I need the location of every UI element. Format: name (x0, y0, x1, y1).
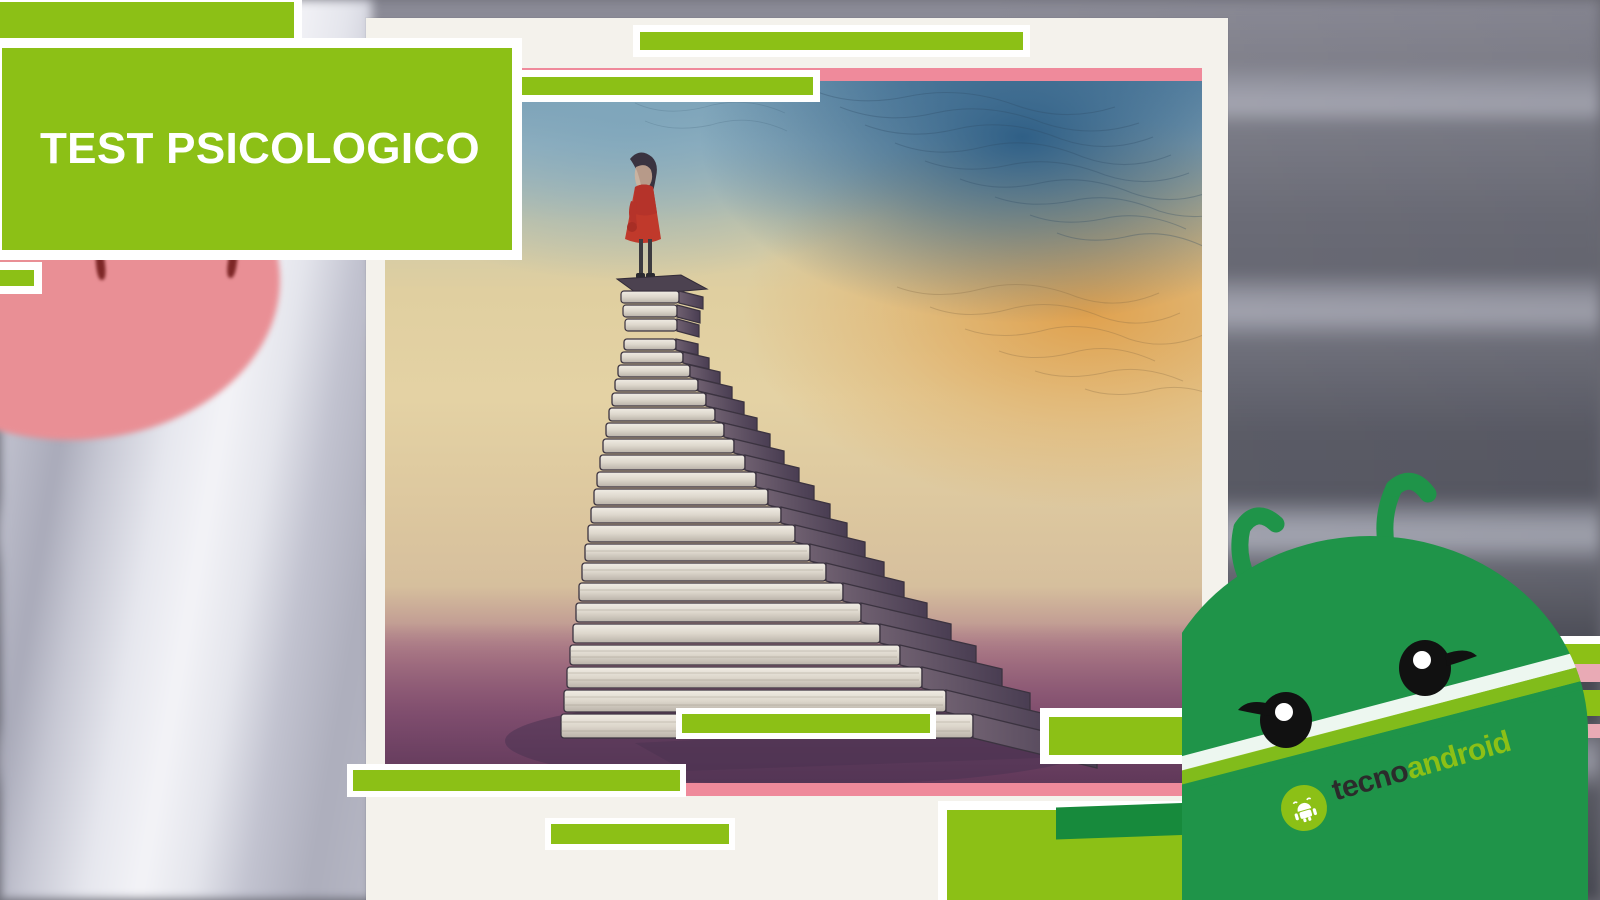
decor-bar-lower-left (347, 764, 686, 797)
mini-android-icon (1287, 791, 1322, 826)
decor-bar-pink-overlap (500, 70, 820, 102)
android-mascot (1182, 472, 1600, 900)
girl-figure (625, 152, 661, 279)
decor-bar-tiny-left (0, 262, 42, 294)
decor-bar-on-books (676, 708, 936, 739)
page-title: TEST PSICOLOGICO (40, 124, 480, 174)
decor-bar-card-top (633, 25, 1030, 57)
screenshot-stage: TEST PSICOLOGICO (0, 0, 1600, 900)
title-banner: TEST PSICOLOGICO (0, 38, 522, 260)
decor-bar-caption (545, 818, 735, 850)
decor-block-bottom-dark (1056, 803, 1196, 840)
